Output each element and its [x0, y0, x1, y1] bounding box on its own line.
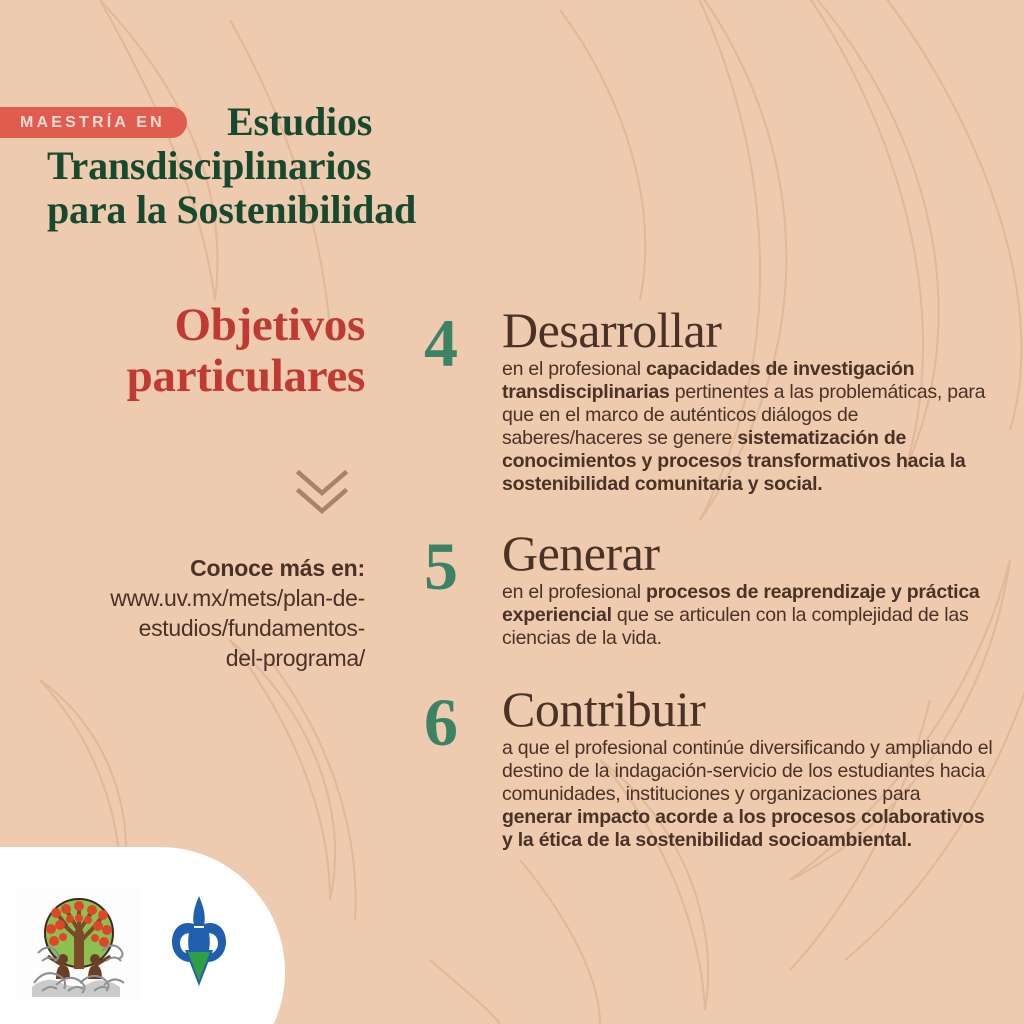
objective-item: 6 Contribuir a que el profesional contin…: [424, 684, 994, 852]
program-title-line-2: Transdisciplinarios: [47, 144, 687, 188]
conoce-mas-block: Conoce más en: www.uv.mx/mets/plan-de- e…: [30, 553, 365, 673]
conoce-mas-label: Conoce más en:: [30, 553, 365, 583]
objective-number: 4: [424, 305, 502, 375]
double-chevron-down-icon: [30, 467, 365, 517]
program-title-line-3: para la Sostenibilidad: [47, 188, 687, 232]
objective-body: Contribuir a que el profesional continúe…: [502, 684, 994, 852]
program-title-line-1: Estudios: [47, 100, 687, 144]
objective-verb: Desarrollar: [502, 305, 994, 356]
objective-body: Desarrollar en el profesional capacidade…: [502, 305, 994, 496]
program-url[interactable]: www.uv.mx/mets/plan-de- estudios/fundame…: [30, 583, 365, 673]
objective-item: 4 Desarrollar en el profesional capacida…: [424, 305, 994, 496]
program-url-line-1: www.uv.mx/mets/plan-de-: [30, 583, 365, 613]
poster-canvas: MAESTRÍA EN Estudios Transdisciplinarios…: [0, 0, 1024, 1024]
logo-strip: [16, 887, 230, 999]
objetivos-heading-line-2: particulares: [30, 351, 365, 402]
objective-verb: Contribuir: [502, 684, 994, 735]
program-url-line-2: estudios/fundamentos-: [30, 613, 365, 643]
program-url-line-3: del-programa/: [30, 643, 365, 673]
objective-item: 5 Generar en el profesional procesos de …: [424, 528, 994, 650]
objective-text: a que el profesional continúe diversific…: [502, 737, 994, 852]
objetivos-heading-line-1: Objetivos: [30, 300, 365, 351]
objective-text: en el profesional procesos de reaprendiz…: [502, 581, 994, 650]
objective-body: Generar en el profesional procesos de re…: [502, 528, 994, 650]
objective-number: 5: [424, 528, 502, 598]
left-column: Objetivos particulares Conoce más en: ww…: [30, 300, 365, 673]
universidad-veracruzana-logo: [168, 894, 230, 992]
objetivos-particulares-heading: Objetivos particulares: [30, 300, 365, 402]
objective-text: en el profesional capacidades de investi…: [502, 358, 994, 496]
objectives-list: 4 Desarrollar en el profesional capacida…: [424, 305, 994, 852]
community-tree-logo: [16, 887, 142, 999]
objective-number: 6: [424, 684, 502, 754]
program-title: Estudios Transdisciplinarios para la Sos…: [47, 100, 687, 232]
objective-verb: Generar: [502, 528, 994, 579]
